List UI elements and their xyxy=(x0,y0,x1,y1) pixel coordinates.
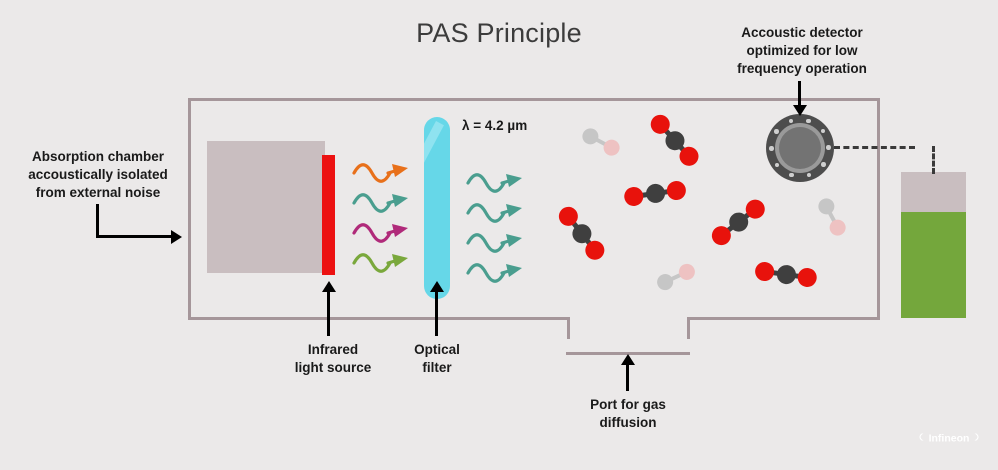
carbon-atom xyxy=(645,182,666,203)
faded-atom-light xyxy=(654,271,675,292)
faded-molecule xyxy=(579,124,624,160)
co2-molecule xyxy=(706,193,770,250)
svg-text:Infineon: Infineon xyxy=(929,433,970,445)
oxygen-atom xyxy=(666,179,687,200)
faded-atom-light xyxy=(816,196,838,218)
co2-molecule xyxy=(623,177,688,209)
faded-atom-light xyxy=(580,126,602,148)
faded-atom-pink xyxy=(676,261,697,282)
oxygen-atom xyxy=(623,185,644,206)
carbon-atom xyxy=(776,263,797,284)
co2-molecule xyxy=(754,258,819,290)
faded-atom-pink xyxy=(827,217,849,239)
faded-molecule xyxy=(654,259,699,294)
co2-molecule xyxy=(553,201,610,265)
faded-atom-pink xyxy=(601,137,623,159)
infineon-logo: Infineon xyxy=(916,424,982,450)
co2-molecule xyxy=(645,109,704,171)
diagram-canvas: PAS Principle λ = 4.2 µm Absorption cham… xyxy=(0,0,998,470)
faded-molecule xyxy=(814,195,850,240)
gas-molecules-layer xyxy=(0,0,998,470)
oxygen-atom xyxy=(754,260,775,281)
oxygen-atom xyxy=(797,266,818,287)
